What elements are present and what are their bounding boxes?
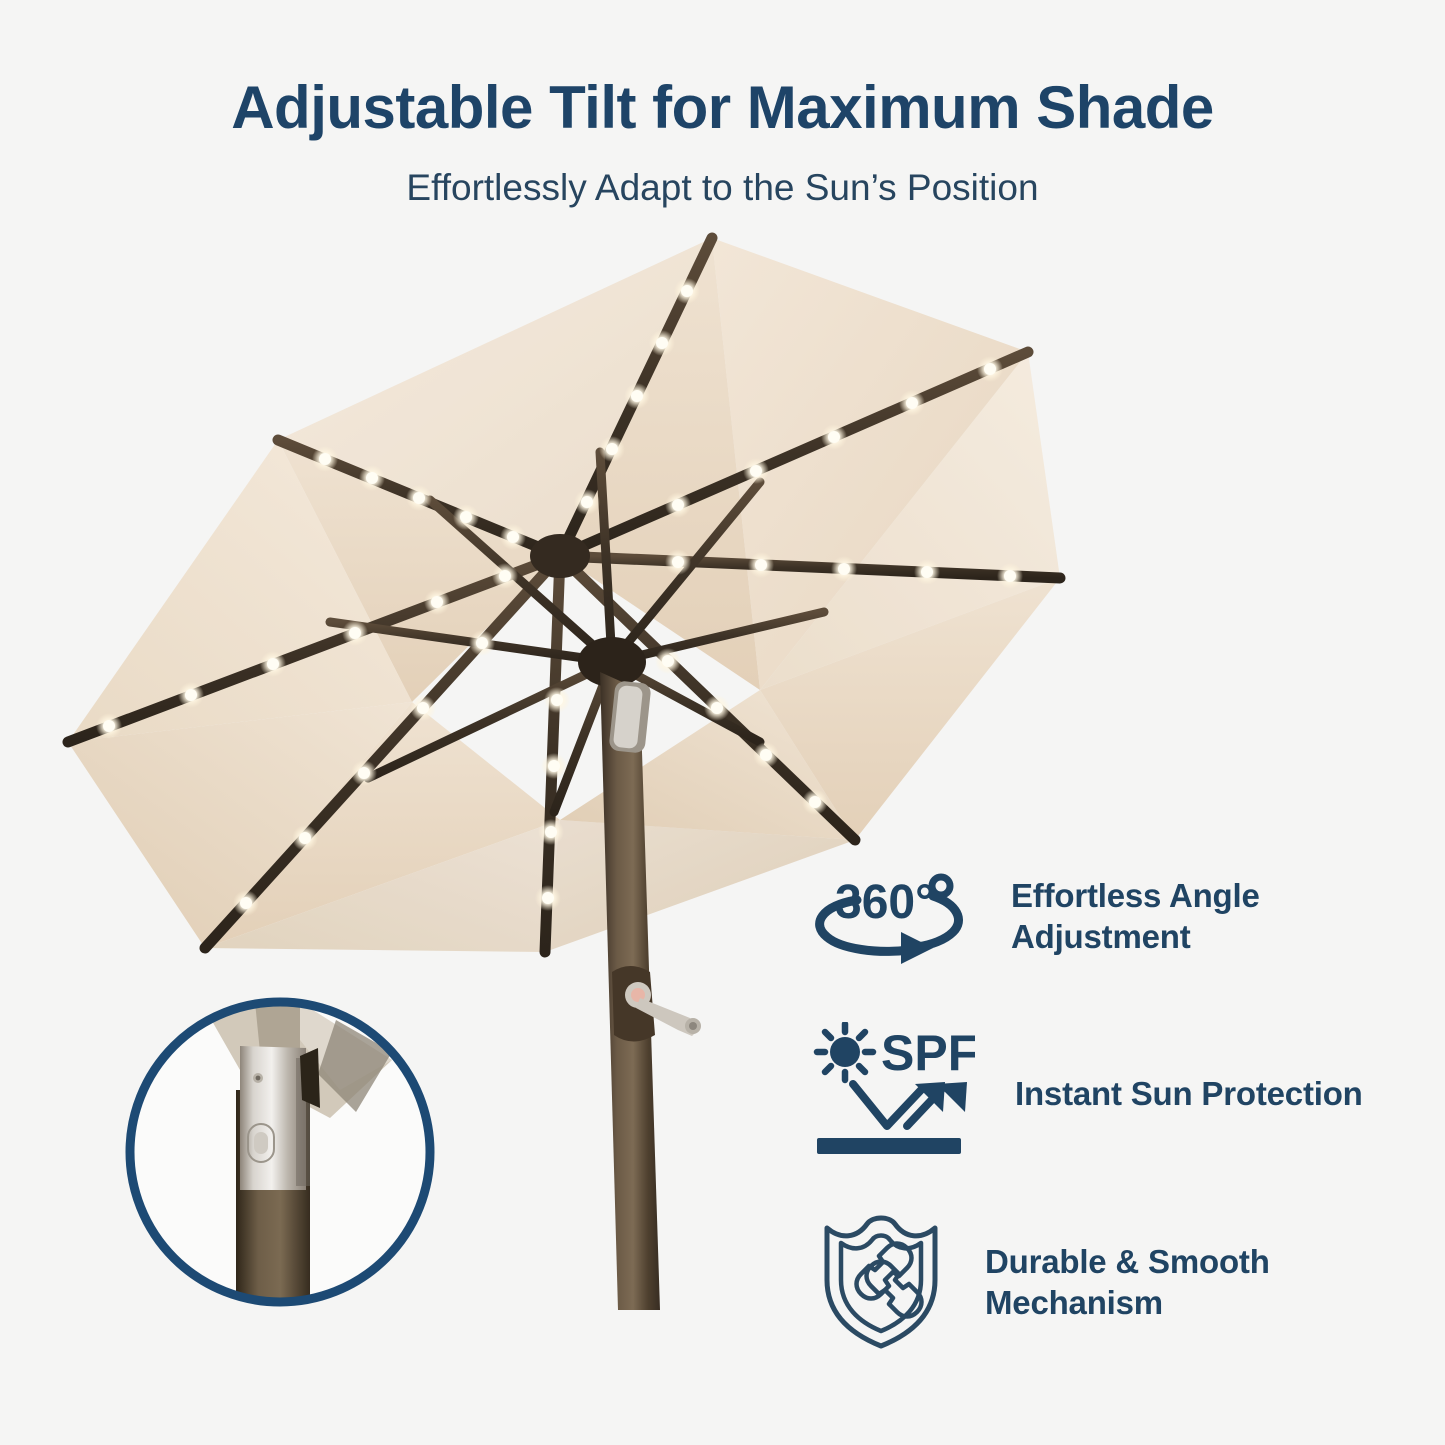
feature-label-angle-adjustment: Effortless Angle Adjustment — [1011, 876, 1341, 957]
shield-wrenches-icon — [817, 1210, 945, 1355]
feature-label-durable-mechanism: Durable & Smooth Mechanism — [985, 1242, 1335, 1323]
feature-item-angle-adjustment: 360° Effortless Angle Adjustment — [805, 862, 1341, 971]
infographic-page: Adjustable Tilt for Maximum Shade Effort… — [0, 0, 1445, 1445]
upper-hub — [530, 534, 590, 578]
tilt-mechanism-closeup — [130, 1000, 430, 1320]
feature-item-sun-protection: SPF Instant Sun Protection — [803, 1022, 1445, 1167]
rotate-360-icon: 360° — [805, 862, 973, 971]
spf-sun-protection-icon: SPF — [803, 1022, 975, 1167]
feature-item-durable-mechanism: Durable & Smooth Mechanism — [817, 1210, 1335, 1355]
feature-label-sun-protection: Instant Sun Protection — [1015, 1074, 1445, 1114]
spf-icon-label: SPF — [881, 1025, 975, 1081]
crank-handle — [612, 966, 701, 1042]
rotate-360-icon-label: 360° — [835, 876, 934, 929]
